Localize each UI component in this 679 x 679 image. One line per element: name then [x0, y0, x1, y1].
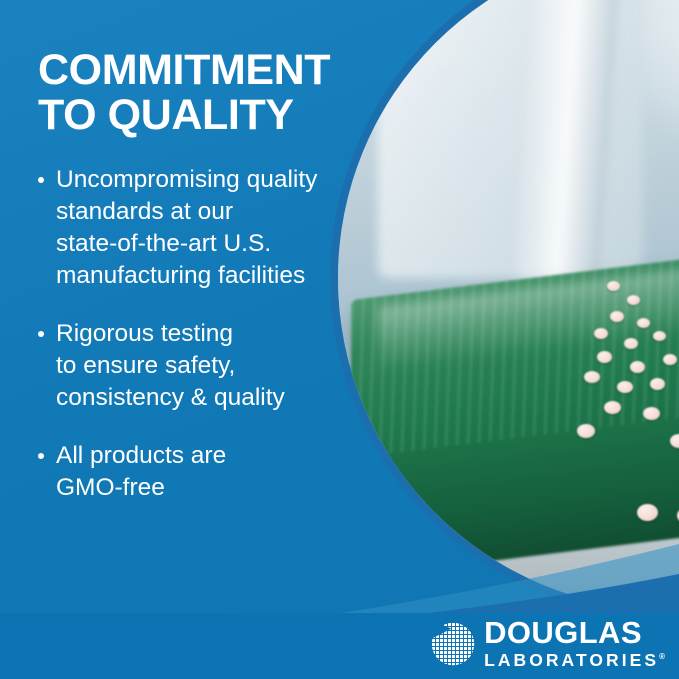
bullet-line: to ensure safety, — [56, 350, 348, 382]
headline-line-2: TO QUALITY — [38, 93, 348, 138]
benefits-list: Uncompromising quality standards at our … — [38, 164, 348, 504]
photo-tablet — [637, 504, 658, 521]
list-item: All products are GMO-free — [38, 440, 348, 504]
bullet-line: state-of-the-art U.S. — [56, 228, 348, 260]
bullet-line: All products are — [56, 440, 348, 472]
logo-wordmark: DOUGLAS LABORATORIES® — [484, 618, 665, 670]
photo-tablet — [577, 424, 595, 438]
photo-tablet — [624, 338, 638, 349]
headline-line-1: COMMITMENT — [38, 46, 330, 94]
logo-brand-name: DOUGLAS — [484, 618, 665, 647]
photo-tablet — [597, 351, 612, 363]
bullet-dot-icon — [38, 453, 44, 459]
bullet-line: standards at our — [56, 196, 348, 228]
logo-sub-name: LABORATORIES® — [484, 647, 665, 670]
list-item: Rigorous testing to ensure safety, consi… — [38, 318, 348, 414]
photo-tablet — [637, 318, 650, 328]
brand-logo: DOUGLAS LABORATORIES® — [431, 620, 665, 668]
photo-tablet — [594, 328, 608, 339]
bullet-line: Uncompromising quality — [56, 164, 348, 196]
list-item: Uncompromising quality standards at our … — [38, 164, 348, 292]
photo-tablet — [584, 371, 600, 383]
photo-tablet — [617, 381, 633, 393]
bullet-line: Rigorous testing — [56, 318, 348, 350]
bullet-line: manufacturing facilities — [56, 260, 348, 292]
logo-mark-mesh — [432, 623, 474, 665]
manufacturing-line-photo — [338, 0, 679, 610]
logo-sub-text: LABORATORIES — [484, 650, 659, 670]
bullet-line: consistency & quality — [56, 382, 348, 414]
grid-circle-logo-icon — [431, 622, 475, 666]
photo-tablet — [650, 378, 665, 390]
photo-tablet — [627, 295, 640, 305]
bullet-dot-icon — [38, 331, 44, 337]
registered-trademark-icon: ® — [659, 652, 665, 661]
commitment-to-quality-poster: COMMITMENT TO QUALITY Uncompromising qua… — [0, 0, 679, 679]
bullet-line: GMO-free — [56, 472, 348, 504]
page-title: COMMITMENT TO QUALITY — [38, 48, 348, 138]
photo-tablet — [604, 401, 621, 414]
text-column: COMMITMENT TO QUALITY Uncompromising qua… — [38, 48, 348, 504]
bullet-dot-icon — [38, 177, 44, 183]
manufacturing-photo-circle — [330, 0, 679, 618]
